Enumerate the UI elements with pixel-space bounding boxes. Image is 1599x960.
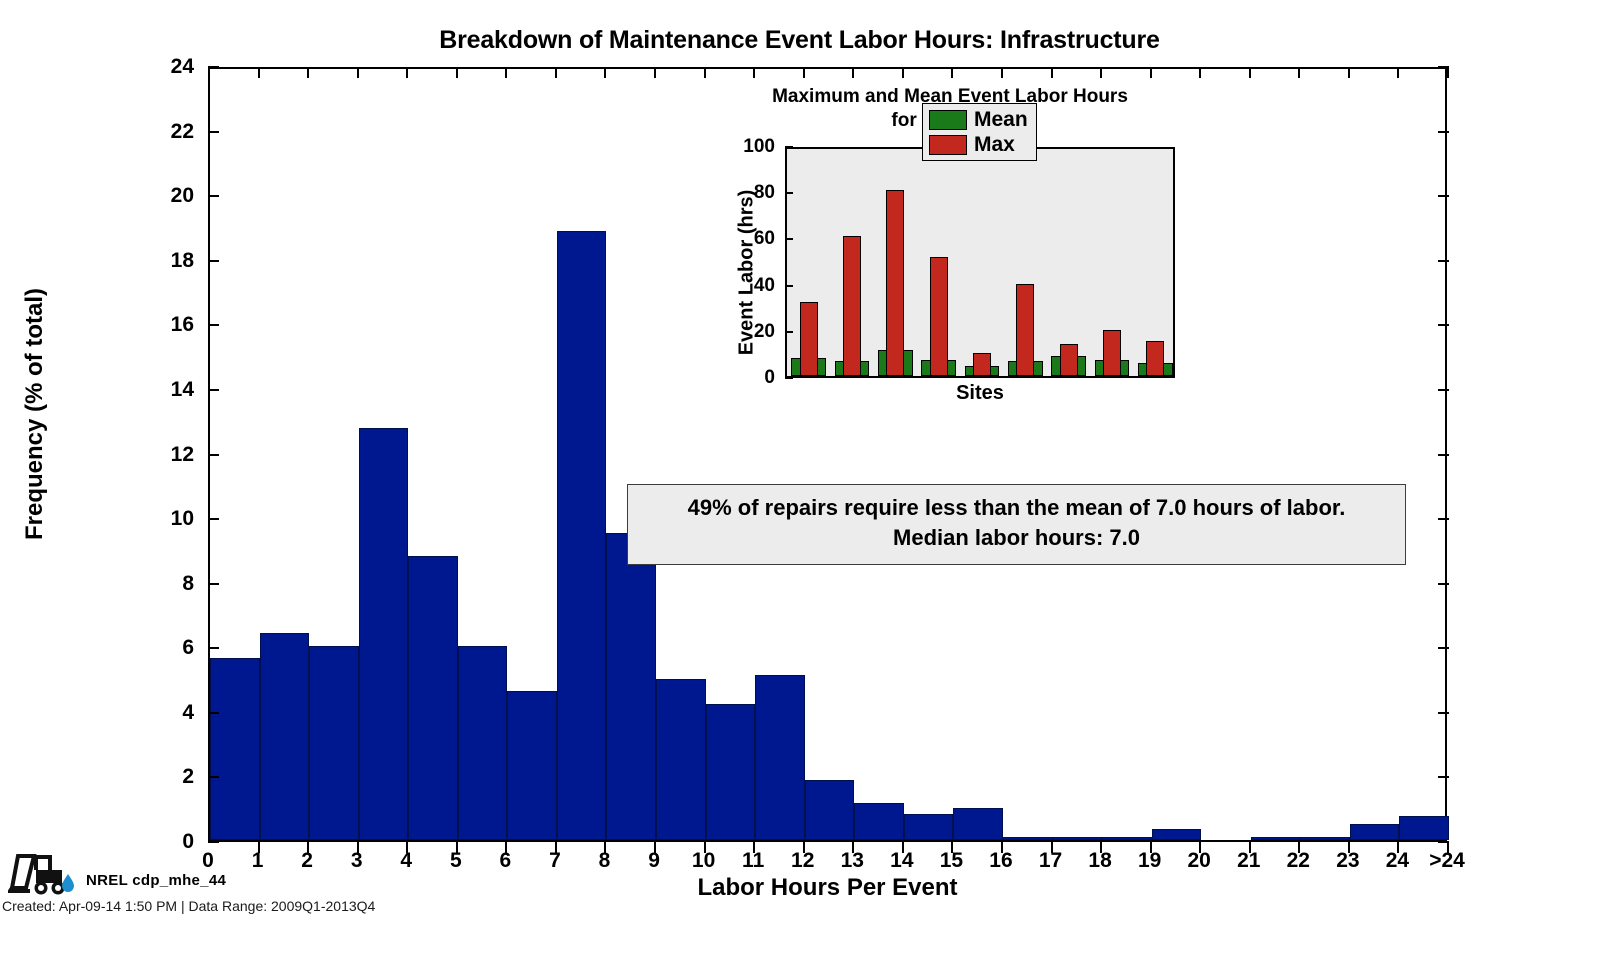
x-tick-mark bbox=[357, 67, 359, 78]
y-tick-mark bbox=[208, 66, 219, 68]
x-tick-mark bbox=[307, 842, 309, 853]
x-tick-mark bbox=[555, 67, 557, 78]
histogram-bar bbox=[656, 679, 706, 840]
y-tick-mark bbox=[208, 841, 219, 843]
y-tick-mark bbox=[1438, 518, 1449, 520]
y-tick-label: 22 bbox=[134, 120, 194, 144]
x-tick-mark bbox=[1447, 842, 1449, 853]
x-tick-mark bbox=[258, 842, 260, 853]
histogram-bar bbox=[1350, 824, 1400, 840]
histogram-bar bbox=[1251, 837, 1301, 840]
y-tick-label: 18 bbox=[134, 249, 194, 273]
inset-y-tick-mark bbox=[785, 331, 793, 333]
x-tick-mark bbox=[1298, 842, 1300, 853]
y-tick-mark bbox=[1438, 195, 1449, 197]
histogram-bar bbox=[260, 633, 310, 840]
y-tick-label: 14 bbox=[134, 378, 194, 402]
inset-y-tick-mark bbox=[785, 238, 793, 240]
inset-y-tick-mark bbox=[785, 285, 793, 287]
x-tick-mark bbox=[1348, 842, 1350, 853]
x-tick-mark bbox=[456, 842, 458, 853]
x-tick-mark bbox=[704, 67, 706, 78]
y-tick-label: 12 bbox=[134, 443, 194, 467]
legend-swatch-max-icon bbox=[929, 135, 967, 155]
y-tick-label: 8 bbox=[134, 572, 194, 596]
x-tick-mark bbox=[1249, 67, 1251, 78]
x-tick-mark bbox=[1397, 67, 1399, 78]
legend-label-mean: Mean bbox=[974, 109, 1028, 130]
inset-bar-max bbox=[800, 302, 818, 376]
y-tick-mark bbox=[208, 454, 219, 456]
x-tick-mark bbox=[1150, 842, 1152, 853]
forklift-icon bbox=[8, 850, 84, 898]
x-tick-mark bbox=[951, 842, 953, 853]
y-tick-label: 4 bbox=[134, 701, 194, 725]
x-tick-mark bbox=[1298, 67, 1300, 78]
inset-chart: Maximum and Mean Event Labor Hours for e… bbox=[700, 85, 1200, 405]
inset-legend: Mean Max bbox=[922, 103, 1037, 161]
histogram-bar bbox=[1003, 837, 1053, 840]
x-tick-mark bbox=[1249, 842, 1251, 853]
y-tick-mark bbox=[1438, 260, 1449, 262]
inset-y-axis-label: Event Labor (hrs) bbox=[736, 148, 759, 398]
y-tick-label: 6 bbox=[134, 636, 194, 660]
x-tick-mark bbox=[307, 67, 309, 78]
x-tick-mark bbox=[803, 842, 805, 853]
y-tick-mark bbox=[208, 518, 219, 520]
y-tick-mark bbox=[208, 776, 219, 778]
y-tick-label: 2 bbox=[134, 765, 194, 789]
x-tick-mark bbox=[406, 842, 408, 853]
annotation-line-1: 49% of repairs require less than the mea… bbox=[638, 493, 1395, 523]
histogram-bar bbox=[507, 691, 557, 840]
inset-y-tick-mark bbox=[785, 377, 793, 379]
x-tick-mark bbox=[357, 842, 359, 853]
x-tick-mark bbox=[406, 67, 408, 78]
page-title: Breakdown of Maintenance Event Labor Hou… bbox=[0, 26, 1599, 55]
y-tick-mark bbox=[1438, 389, 1449, 391]
inset-bar-max bbox=[843, 236, 861, 376]
histogram-bar bbox=[1152, 829, 1202, 840]
x-tick-mark bbox=[555, 842, 557, 853]
y-tick-mark bbox=[1438, 131, 1449, 133]
y-tick-mark bbox=[1438, 776, 1449, 778]
x-tick-mark bbox=[456, 67, 458, 78]
x-tick-mark bbox=[803, 67, 805, 78]
histogram-bar bbox=[854, 803, 904, 840]
legend-item-mean: Mean bbox=[929, 109, 1028, 130]
x-tick-mark bbox=[1447, 67, 1449, 78]
histogram-bar bbox=[458, 646, 508, 840]
y-tick-mark bbox=[208, 712, 219, 714]
x-tick-mark bbox=[902, 842, 904, 853]
y-tick-mark bbox=[208, 260, 219, 262]
inset-bar-max bbox=[1016, 284, 1034, 376]
y-tick-mark bbox=[208, 195, 219, 197]
x-tick-mark bbox=[902, 67, 904, 78]
x-tick-mark bbox=[505, 842, 507, 853]
inset-bar-max bbox=[1060, 344, 1078, 376]
x-tick-mark bbox=[951, 67, 953, 78]
x-tick-mark bbox=[1150, 67, 1152, 78]
x-tick-mark bbox=[1001, 67, 1003, 78]
histogram-bar bbox=[904, 814, 954, 840]
inset-bar-max bbox=[886, 190, 904, 376]
x-tick-mark bbox=[852, 842, 854, 853]
inset-bar-max bbox=[930, 257, 948, 376]
y-tick-label: 10 bbox=[134, 507, 194, 531]
y-tick-mark bbox=[1438, 454, 1449, 456]
inset-y-tick-mark bbox=[785, 146, 793, 148]
y-axis-label: Frequency (% of total) bbox=[21, 174, 49, 654]
y-tick-mark bbox=[1438, 324, 1449, 326]
inset-bar-max bbox=[1146, 341, 1164, 376]
x-tick-mark bbox=[1348, 67, 1350, 78]
y-tick-mark bbox=[208, 583, 219, 585]
chart-page: Breakdown of Maintenance Event Labor Hou… bbox=[0, 0, 1599, 960]
y-tick-label: 24 bbox=[134, 55, 194, 79]
x-tick-mark bbox=[1100, 842, 1102, 853]
y-tick-mark bbox=[208, 131, 219, 133]
inset-plot-area bbox=[785, 147, 1175, 378]
legend-label-max: Max bbox=[974, 134, 1015, 155]
x-tick-mark bbox=[753, 67, 755, 78]
footer-chart-id: NREL cdp_mhe_44 bbox=[86, 872, 226, 889]
histogram-bar bbox=[210, 658, 260, 840]
inset-y-tick-mark bbox=[785, 192, 793, 194]
x-axis-label: Labor Hours Per Event bbox=[208, 874, 1447, 902]
x-tick-mark bbox=[505, 67, 507, 78]
x-tick-mark bbox=[1001, 842, 1003, 853]
y-tick-mark bbox=[208, 647, 219, 649]
x-tick-mark bbox=[753, 842, 755, 853]
histogram-bar bbox=[1053, 837, 1103, 840]
histogram-bar bbox=[309, 646, 359, 840]
x-tick-mark bbox=[1397, 842, 1399, 853]
x-tick-mark bbox=[1100, 67, 1102, 78]
inset-x-axis-label: Sites bbox=[785, 382, 1175, 405]
x-tick-mark bbox=[1051, 67, 1053, 78]
y-tick-mark bbox=[208, 324, 219, 326]
histogram-bar bbox=[706, 704, 756, 840]
y-tick-mark bbox=[1438, 712, 1449, 714]
histogram-bar bbox=[755, 675, 805, 840]
histogram-bar bbox=[408, 556, 458, 840]
y-tick-mark bbox=[1438, 583, 1449, 585]
x-tick-mark bbox=[1199, 842, 1201, 853]
histogram-bar bbox=[953, 808, 1003, 840]
histogram-bar bbox=[1300, 837, 1350, 840]
annotation-box: 49% of repairs require less than the mea… bbox=[627, 484, 1406, 565]
histogram-bar bbox=[359, 428, 409, 840]
histogram-bar bbox=[557, 231, 607, 840]
footer-created-text: Created: Apr-09-14 1:50 PM | Data Range:… bbox=[2, 898, 375, 914]
x-tick-mark bbox=[654, 842, 656, 853]
inset-bars bbox=[787, 149, 1173, 376]
x-tick-mark bbox=[852, 67, 854, 78]
legend-item-max: Max bbox=[929, 134, 1028, 155]
x-tick-mark bbox=[1199, 67, 1201, 78]
y-tick-label: 20 bbox=[134, 184, 194, 208]
histogram-bar bbox=[805, 780, 855, 840]
inset-bar-max bbox=[973, 353, 991, 376]
x-tick-mark bbox=[258, 67, 260, 78]
x-tick-mark bbox=[1051, 842, 1053, 853]
annotation-line-2: Median labor hours: 7.0 bbox=[638, 523, 1395, 553]
x-tick-mark bbox=[604, 842, 606, 853]
y-tick-mark bbox=[1438, 647, 1449, 649]
histogram-bar bbox=[1102, 837, 1152, 840]
y-tick-label: 16 bbox=[134, 313, 194, 337]
y-tick-mark bbox=[208, 389, 219, 391]
inset-bar-max bbox=[1103, 330, 1121, 376]
legend-swatch-mean-icon bbox=[929, 110, 967, 130]
x-tick-mark bbox=[604, 67, 606, 78]
histogram-bar bbox=[1399, 816, 1449, 840]
x-tick-mark bbox=[704, 842, 706, 853]
histogram-bar bbox=[606, 533, 656, 840]
x-tick-mark bbox=[654, 67, 656, 78]
